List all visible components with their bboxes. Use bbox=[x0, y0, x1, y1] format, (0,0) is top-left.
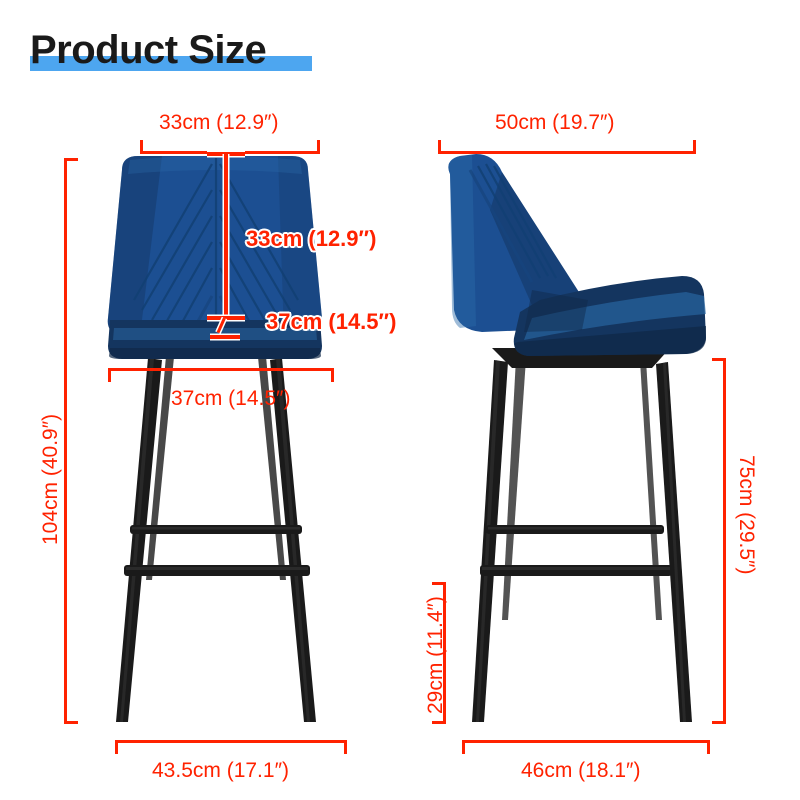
rule-backrest-height bbox=[224, 154, 228, 318]
bracket-seat-height bbox=[712, 358, 726, 724]
label-base-depth: 46cm (18.1″) bbox=[521, 760, 640, 781]
product-size-diagram: Product Size bbox=[0, 0, 800, 800]
front-legs bbox=[116, 356, 316, 722]
label-base-width: 43.5cm (17.1″) bbox=[152, 760, 289, 781]
label-seat-depth: 37cm (14.5″) bbox=[266, 311, 396, 333]
label-seat-width: 37cm (14.5″) bbox=[171, 388, 290, 409]
label-total-height: 104cm (40.9″) bbox=[40, 414, 61, 545]
bracket-total-height bbox=[64, 158, 78, 724]
bracket-base-depth bbox=[462, 740, 710, 754]
label-seat-height: 75cm (29.5″) bbox=[736, 455, 757, 574]
page-title-text: Product Size bbox=[30, 28, 266, 72]
label-backrest-height: 33cm (12.9″) bbox=[246, 228, 376, 250]
side-legs bbox=[472, 358, 692, 722]
label-overall-depth: 50cm (19.7″) bbox=[495, 112, 614, 133]
label-footrest-height: 29cm (11.4″) bbox=[425, 596, 446, 714]
bracket-base-width bbox=[115, 740, 347, 754]
page-title: Product Size bbox=[30, 28, 266, 74]
label-backrest-width: 33cm (12.9″) bbox=[159, 112, 278, 133]
side-view-chair-illustration bbox=[420, 150, 730, 730]
bracket-overall-depth bbox=[438, 140, 696, 154]
bracket-seat-width bbox=[108, 368, 334, 382]
